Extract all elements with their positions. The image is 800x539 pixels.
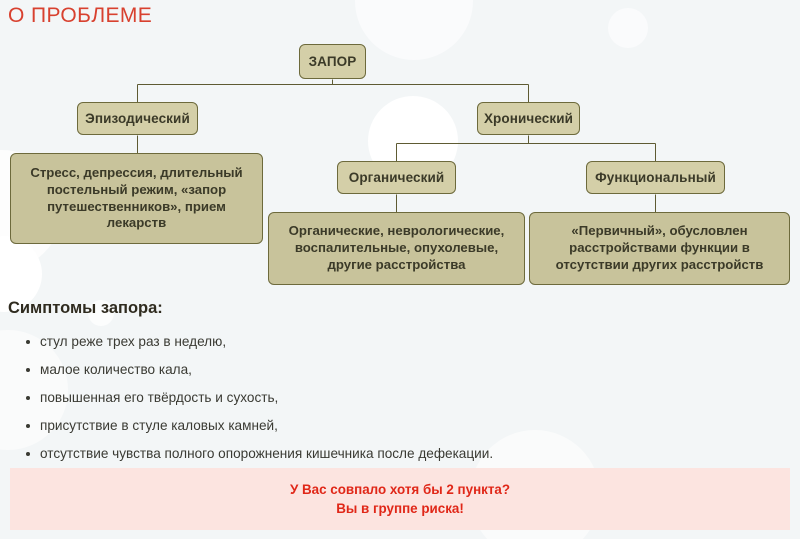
risk-warning-line-1: У Вас совпало хотя бы 2 пункта? xyxy=(290,480,510,499)
slide-page: О ПРОБЛЕМЕ ЗАПОР Эпизод xyxy=(0,0,800,539)
list-item-label: стул реже трех раз в неделю, xyxy=(40,334,226,349)
diagram-node-functional: Функциональный xyxy=(586,161,725,194)
symptoms-list: стул реже трех раз в неделю, малое колич… xyxy=(8,328,778,468)
list-item: присутствие в стуле каловых камней, xyxy=(8,412,778,440)
list-item: повышенная его твёрдость и сухость, xyxy=(8,384,778,412)
list-item-label: повышенная его твёрдость и сухость, xyxy=(40,390,278,405)
symptoms-heading: Симптомы запора: xyxy=(8,297,163,319)
diagram-node-organic: Органический xyxy=(337,161,456,194)
diagram-node-episodic: Эпизодический xyxy=(77,102,198,135)
diagram-node-organic-description: Органические, неврологические, воспалите… xyxy=(268,212,525,285)
constipation-classification-diagram: ЗАПОР Эпизодический Хронический Органиче… xyxy=(0,0,800,295)
bullet-icon xyxy=(26,452,30,456)
risk-warning-line-2: Вы в группе риска! xyxy=(336,499,464,518)
diagram-node-episodic-description: Стресс, депрессия, длительный постельный… xyxy=(10,153,263,244)
bullet-icon xyxy=(26,424,30,428)
bullet-icon xyxy=(26,340,30,344)
list-item: отсутствие чувства полного опорожнения к… xyxy=(8,440,778,468)
diagram-node-root: ЗАПОР xyxy=(299,44,366,79)
list-item: малое количество кала, xyxy=(8,356,778,384)
diagram-node-chronic: Хронический xyxy=(477,102,580,135)
diagram-node-functional-description: «Первичный», обусловлен расстройствами ф… xyxy=(529,212,790,285)
bullet-icon xyxy=(26,396,30,400)
list-item-label: присутствие в стуле каловых камней, xyxy=(40,418,278,433)
risk-warning-banner: У Вас совпало хотя бы 2 пункта? Вы в гру… xyxy=(10,468,790,530)
list-item: стул реже трех раз в неделю, xyxy=(8,328,778,356)
bullet-icon xyxy=(26,368,30,372)
list-item-label: малое количество кала, xyxy=(40,362,192,377)
list-item-label: отсутствие чувства полного опорожнения к… xyxy=(40,446,493,461)
